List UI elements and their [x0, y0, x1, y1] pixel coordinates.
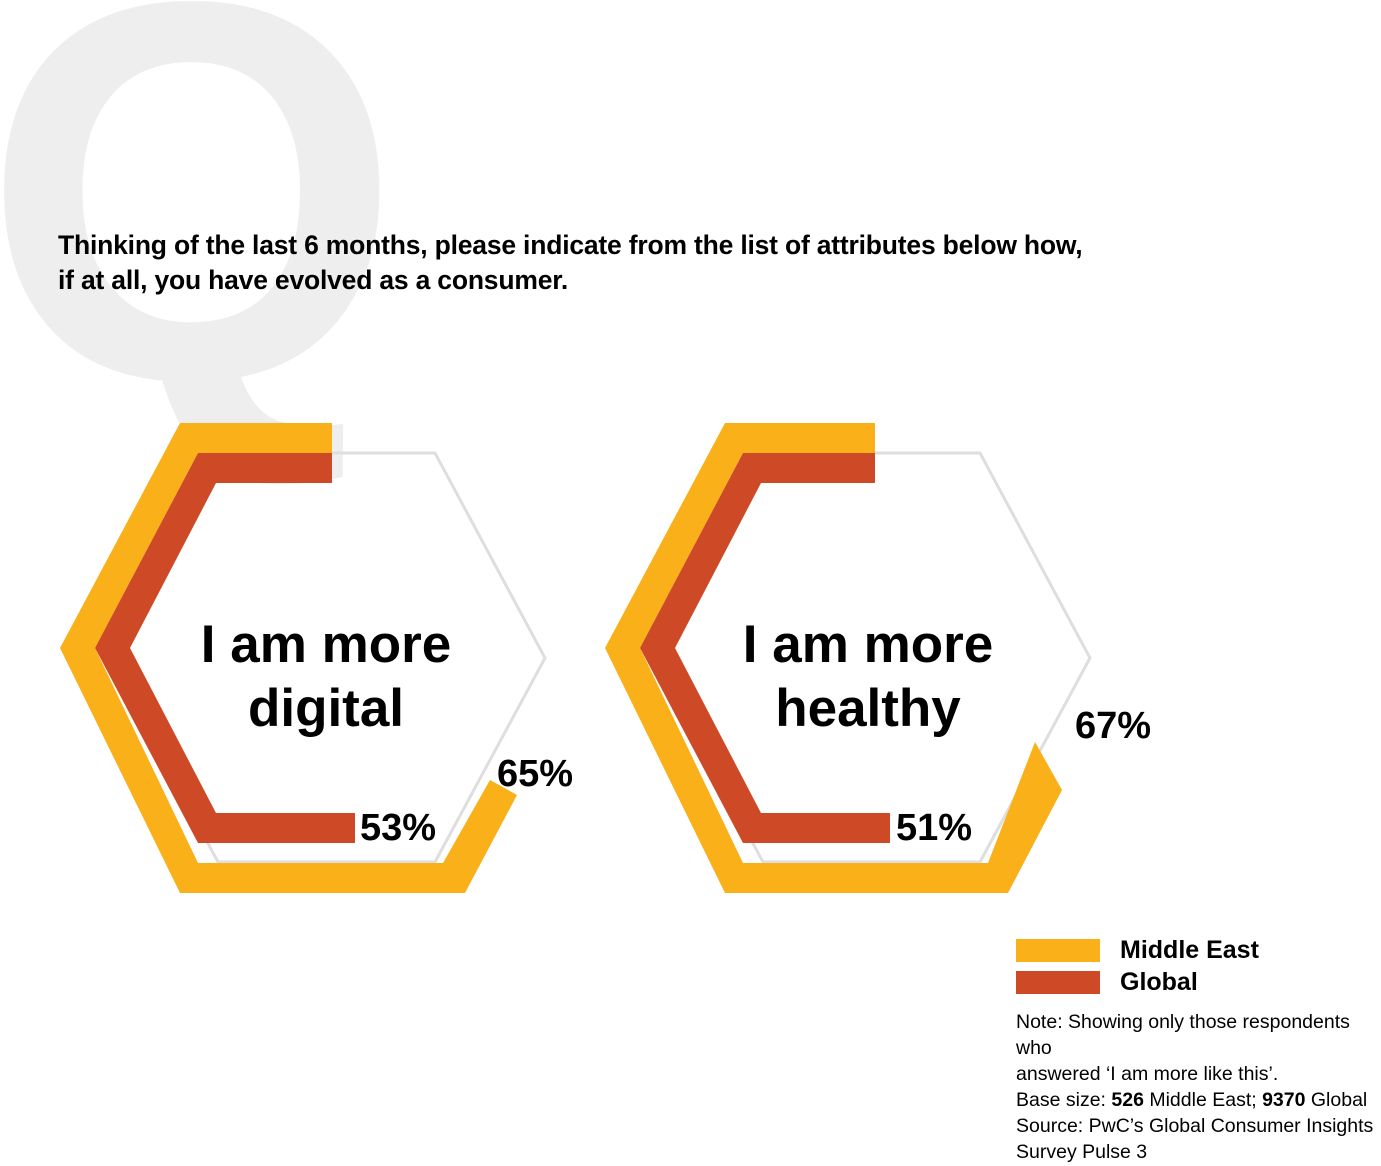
middle-east-band-healthy	[605, 423, 1062, 893]
value-label-healthy-middle-east: 67%	[1075, 705, 1151, 747]
value-label-healthy-global: 51%	[896, 807, 972, 849]
footnote-note-line2: answered ‘I am more like this’.	[1016, 1062, 1378, 1088]
footnote: Note: Showing only those respondents who…	[1016, 1010, 1378, 1166]
track-hexagon-digital	[108, 453, 545, 862]
legend-label-global: Global	[1120, 970, 1198, 995]
value-label-digital-global: 53%	[360, 807, 436, 849]
track-hexagon-healthy	[653, 453, 1090, 862]
hexagon-label-digital-line2: digital	[248, 679, 404, 738]
hexagon-label-healthy-line2: healthy	[775, 679, 961, 738]
footnote-base-size: Base size: 526 Middle East; 9370 Global	[1016, 1088, 1378, 1114]
value-label-digital-middle-east: 65%	[497, 753, 573, 795]
legend-item-global: Global	[1016, 968, 1376, 997]
hexagon-gauge-healthy: I am more healthy 67% 51%	[605, 423, 1151, 893]
legend-swatch-middle-east	[1016, 939, 1100, 962]
hexagon-label-healthy-line1: I am more	[743, 615, 993, 674]
footnote-base-prefix: Base size:	[1016, 1089, 1111, 1111]
question-text: Thinking of the last 6 months, please in…	[58, 228, 1088, 298]
hexagon-gauge-digital: I am more digital 65% 53%	[60, 423, 573, 893]
footnote-note-line1: Note: Showing only those respondents who	[1016, 1010, 1378, 1062]
footnote-base-global-value: 9370	[1262, 1089, 1305, 1111]
footnote-source-line2: Survey Pulse 3	[1016, 1140, 1378, 1166]
hexagon-label-digital-line1: I am more	[201, 615, 451, 674]
footnote-base-middle-east-value: 526	[1111, 1089, 1144, 1111]
legend: Middle East Global	[1016, 936, 1376, 1000]
footnote-source-line1: Source: PwC’s Global Consumer Insights	[1016, 1114, 1378, 1140]
legend-label-middle-east: Middle East	[1120, 938, 1259, 963]
legend-item-middle-east: Middle East	[1016, 936, 1376, 965]
global-band-digital	[95, 453, 355, 843]
legend-swatch-global	[1016, 971, 1100, 994]
middle-east-band-digital	[60, 423, 517, 893]
global-band-healthy	[640, 453, 890, 843]
footnote-base-middle-east-label: Middle East;	[1144, 1089, 1262, 1111]
footnote-base-global-label: Global	[1305, 1089, 1367, 1111]
